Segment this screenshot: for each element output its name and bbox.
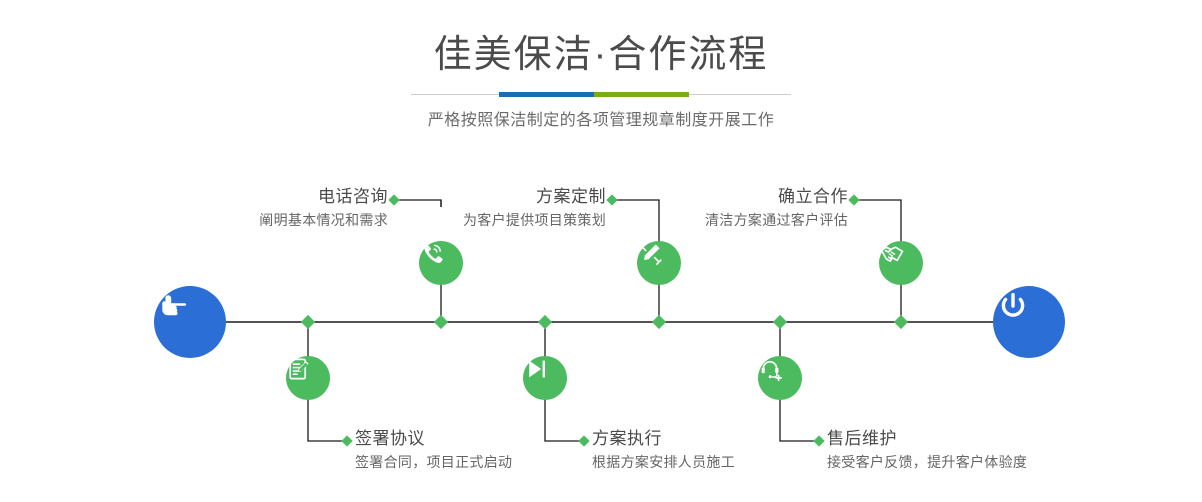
flow-label-step-6-title: 售后维护 [827, 428, 1157, 450]
diamond-marker-axis-5 [773, 315, 787, 329]
flow-label-step-1-desc: 阐明基本情况和需求 [134, 210, 388, 230]
flow-label-step-6: 售后维护 接受客户反馈，提升客户体验度 [827, 428, 1157, 472]
process-flow-diagram: 电话咨询 阐明基本情况和需求 方案定制 为客户提供项目策策划 确立合作 清洁方案… [0, 0, 1202, 502]
diamond-marker-axis-2 [434, 315, 448, 329]
flow-node-step-5[interactable] [879, 241, 923, 285]
flow-node-step-6[interactable] [758, 356, 802, 400]
flow-end-node[interactable] [993, 286, 1065, 358]
diamond-marker-axis-4 [652, 315, 666, 329]
infographic-root: 佳美保洁·合作流程 严格按照保洁制定的各项管理规章制度开展工作 [0, 0, 1202, 502]
flow-node-step-2[interactable] [286, 356, 330, 400]
diamond-marker-label-5 [848, 194, 859, 205]
flow-label-step-5-title: 确立合作 [594, 186, 848, 208]
flow-label-step-1: 电话咨询 阐明基本情况和需求 [134, 186, 388, 230]
flow-label-step-3-title: 方案定制 [352, 186, 606, 208]
diamond-marker-axis-1 [301, 315, 315, 329]
flow-node-step-4[interactable] [523, 356, 567, 400]
diamond-marker-axis-3 [538, 315, 552, 329]
flow-connectors [0, 0, 1202, 502]
flow-label-step-1-title: 电话咨询 [134, 186, 388, 208]
flow-node-step-1[interactable] [419, 241, 463, 285]
flow-start-node[interactable] [154, 286, 226, 358]
flow-node-step-3[interactable] [637, 241, 681, 285]
flow-label-step-3: 方案定制 为客户提供项目策策划 [352, 186, 606, 230]
flow-label-step-5-desc: 清洁方案通过客户评估 [594, 210, 848, 230]
flow-label-step-5: 确立合作 清洁方案通过客户评估 [594, 186, 848, 230]
diamond-marker-axis-6 [894, 315, 908, 329]
flow-label-step-6-desc: 接受客户反馈，提升客户体验度 [827, 452, 1157, 472]
diamond-marker-label-2 [341, 435, 352, 446]
flow-label-step-3-desc: 为客户提供项目策策划 [352, 210, 606, 230]
